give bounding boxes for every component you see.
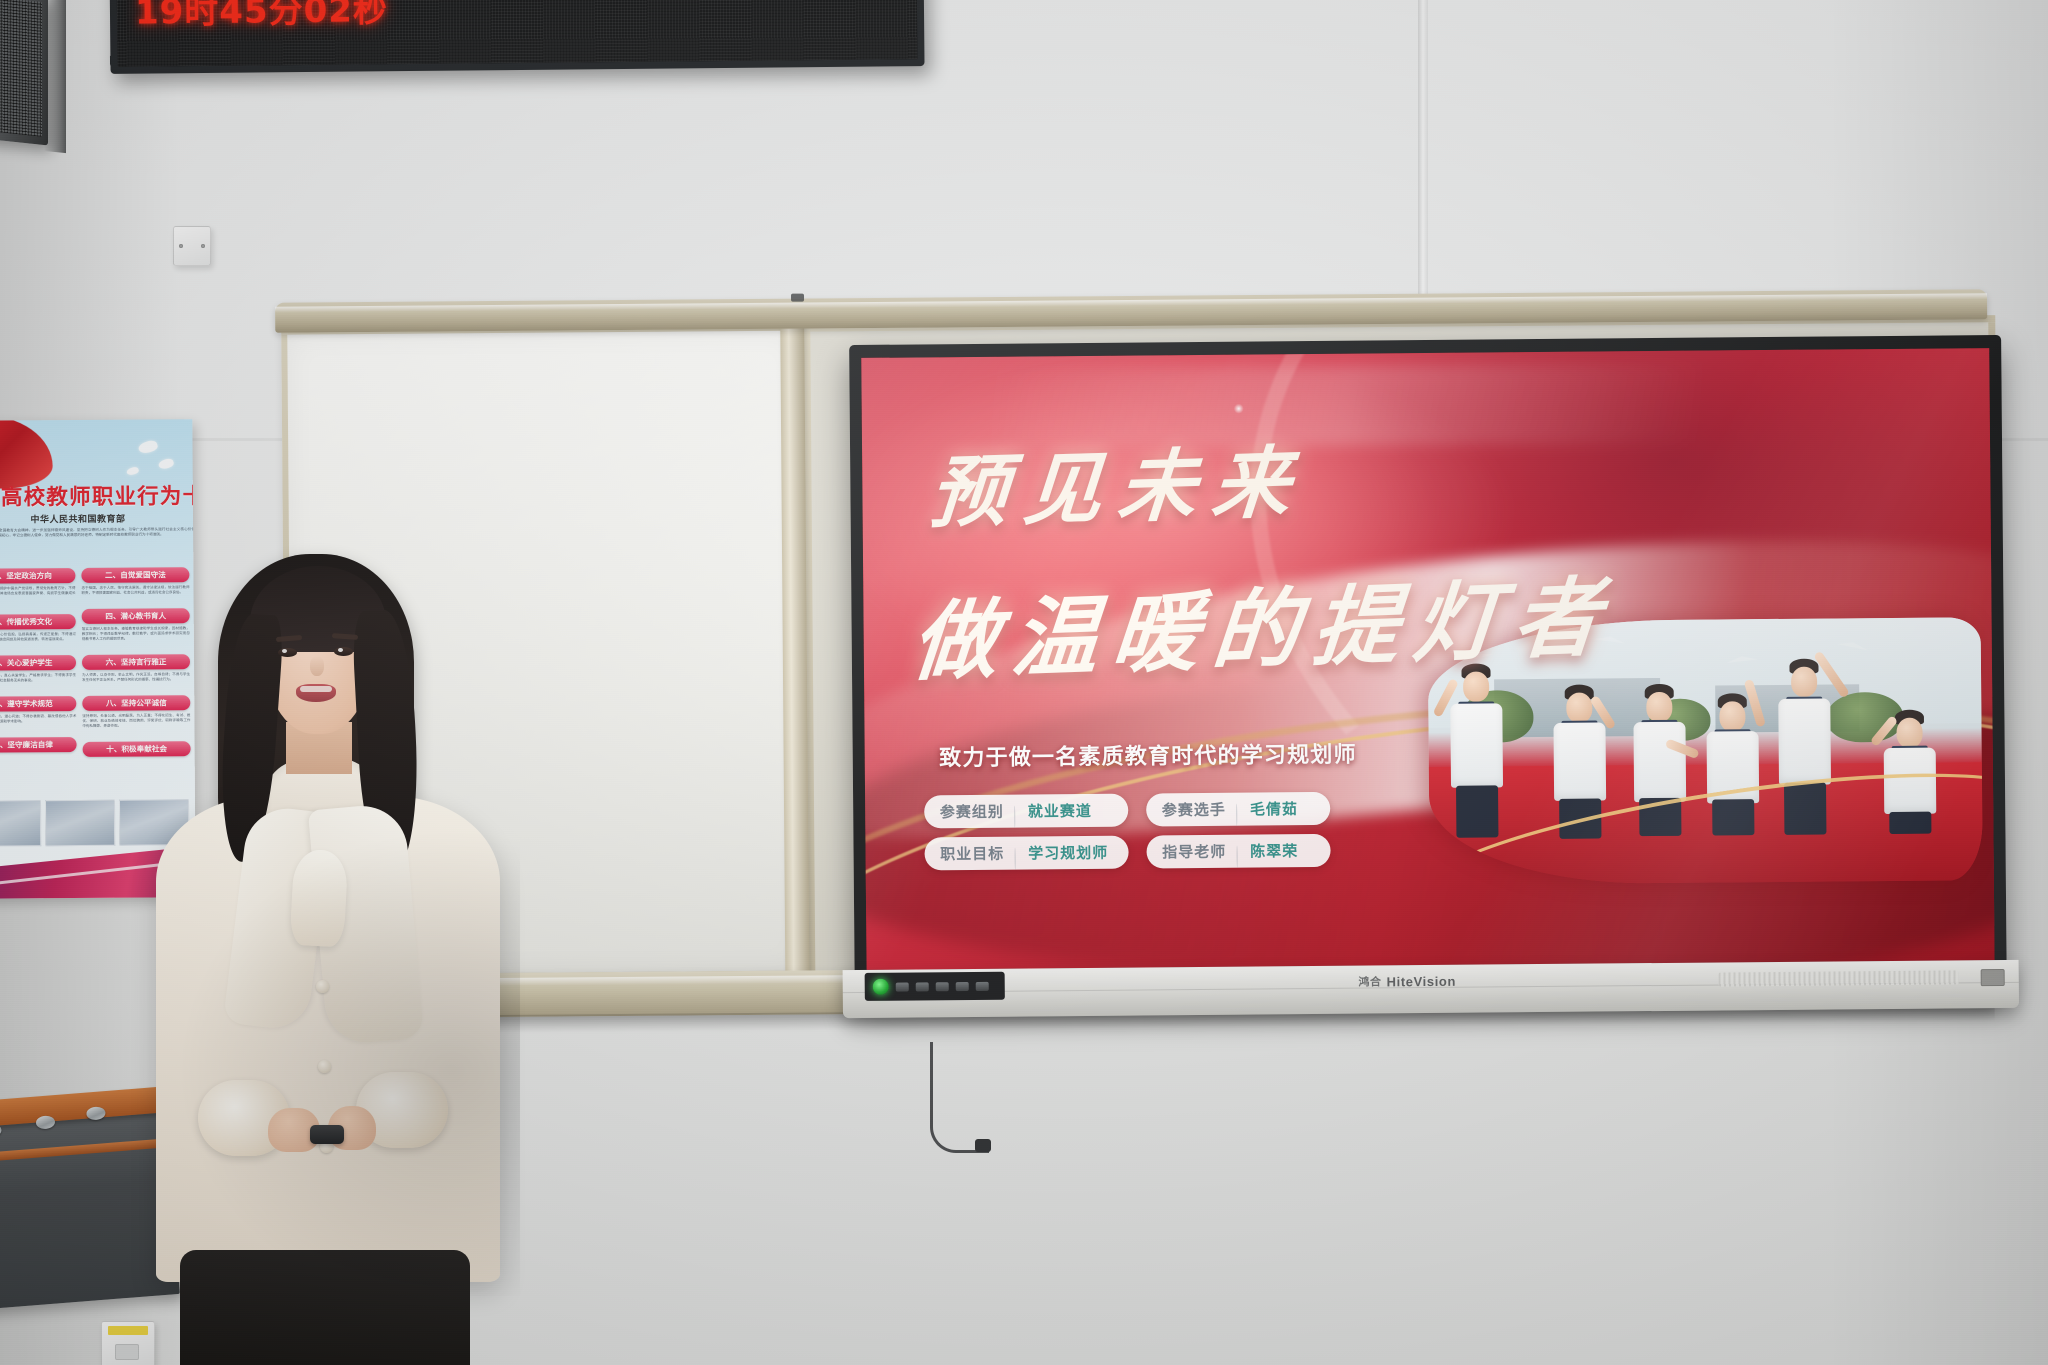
- student-figure: [1550, 668, 1609, 836]
- info-chip-key: 参赛组别: [924, 800, 1015, 822]
- control-button[interactable]: [976, 981, 989, 990]
- power-button-icon[interactable]: [873, 979, 889, 995]
- poster-item: 五、关心爱护学生 严慈相济，诲人不倦，真心关爱学生，严格要求学生；不得要求学生从…: [0, 655, 76, 684]
- poster-intro-text: 为深入贯彻落实全国教育大会精神，进一步加强师德师风建设，坚持把立德树人作为根本任…: [0, 527, 196, 539]
- poster-issuer: 中华人民共和国教育部: [0, 511, 193, 526]
- control-button[interactable]: [896, 982, 909, 991]
- brand-name-cn: 鸿合: [1358, 973, 1381, 989]
- slide-info-chips: 参赛组别 就业赛道 参赛选手 毛倩茹 职业目标 学习规划师 指导老师 陈翠荣: [924, 791, 1331, 870]
- eye-highlight: [282, 649, 287, 653]
- panel-screen[interactable]: 预见未来 做温暖的提灯者 致力于做一名素质教育时代的学习规划师 参赛组别 就业赛…: [861, 348, 1994, 970]
- info-chip: 参赛选手 毛倩茹: [1146, 791, 1330, 826]
- coat-button-icon: [318, 1060, 331, 1073]
- interactive-flat-panel[interactable]: 预见未来 做温暖的提灯者 致力于做一名素质教育时代的学习规划师 参赛组别 就业赛…: [849, 335, 2007, 1005]
- poster-item-title: 三、传播优秀文化: [0, 614, 76, 630]
- info-chip-key: 指导老师: [1146, 840, 1237, 862]
- brand-name-en: HiteVision: [1387, 973, 1456, 989]
- presenter-teeth: [300, 686, 332, 692]
- info-chip-value: 学习规划师: [1015, 841, 1122, 863]
- wall-speaker: [0, 0, 48, 145]
- poster-item-body: 严慈相济，诲人不倦，真心关爱学生，严格要求学生；不得要求学生从事与教学、科研、社…: [0, 673, 76, 684]
- panel-chin: 鸿合 HiteVision: [843, 960, 2019, 1018]
- poster-item: 七、遵守学术规范 严谨治学，力戒浮躁，潜心问道；不得抄袭剽窃、篡改侵吞他人学术成…: [0, 696, 76, 725]
- presenter-nose: [310, 656, 324, 676]
- info-chip-value: 就业赛道: [1015, 799, 1106, 821]
- info-chip-key: 参赛选手: [1146, 798, 1237, 820]
- classroom-scene: 027-67885091 19时45分02秒 新时代高校教师职业行为十项准则 中…: [0, 0, 2048, 1365]
- student-figure: [1444, 657, 1508, 838]
- rail-clip-icon: [791, 294, 804, 302]
- info-chip-value: 毛倩茹: [1237, 798, 1312, 820]
- control-button[interactable]: [936, 982, 949, 991]
- poster-photo: [0, 800, 41, 846]
- presenter-eye: [278, 648, 297, 657]
- control-button[interactable]: [916, 982, 929, 991]
- poster-item-title: 五、关心爱护学生: [0, 655, 76, 671]
- info-chip-value: 陈翠荣: [1237, 840, 1312, 862]
- wall-switch-plate[interactable]: [173, 226, 211, 266]
- presentation-clicker[interactable]: [310, 1125, 344, 1144]
- poster-item-body: 严谨治学，力戒浮躁，潜心问道；不得抄袭剽窃、篡改侵吞他人学术成果，或滥用学术资源…: [0, 714, 76, 725]
- coat-bow-tie: [290, 849, 349, 948]
- poster-photo: [45, 800, 115, 846]
- flag-graphic-icon: [0, 419, 53, 489]
- speaker-grille-icon: [0, 0, 42, 137]
- poster-item: 一、坚定政治方向 坚持正确政治方向，拥护中国共产党领导，贯彻党的教育方针，不得在…: [0, 568, 76, 602]
- coat-button-icon: [316, 980, 329, 993]
- slide-title-line2: 做温暖的提灯者: [907, 547, 1620, 698]
- poster-item: 三、传播优秀文化 带头践行社会主义核心价值观，弘扬真善美，传递正能量；不得通过课…: [0, 614, 76, 643]
- panel-control-strip[interactable]: [865, 972, 1005, 1001]
- info-chip: 参赛组别 就业赛道: [924, 793, 1128, 828]
- panel-vent-grille: [1719, 970, 1959, 986]
- info-chip: 职业目标 学习规划师: [924, 835, 1128, 870]
- presenter-eye: [334, 647, 353, 656]
- slide-title-line1: 预见未来: [925, 420, 1310, 543]
- poster-item-title: 七、遵守学术规范: [0, 696, 76, 712]
- slide-subtitle: 致力于做一名素质教育时代的学习规划师: [939, 736, 1357, 772]
- eye-highlight: [338, 648, 343, 652]
- dove-icon: [137, 439, 159, 455]
- cable-plug-icon: [975, 1139, 991, 1152]
- screw-icon: [201, 244, 205, 248]
- hanging-cable: [930, 1042, 989, 1153]
- led-time-readout: 19时45分02秒: [135, 0, 388, 34]
- panel-side-port-icon[interactable]: [1981, 969, 2005, 986]
- panel-brand-label: 鸿合 HiteVision: [1358, 973, 1456, 990]
- poster-item-body: 带头践行社会主义核心价值观，弘扬真善美，传递正能量；不得通过课堂、论坛、讲座、信…: [0, 632, 76, 643]
- poster-item-body: 坚持正确政治方向，拥护中国共产党领导，贯彻党的教育方针，不得在教育教学活动中及其…: [0, 586, 76, 602]
- presenter-figure: [140, 560, 520, 1365]
- outlet-socket-icon: [115, 1344, 139, 1360]
- poster-item-title: 九、坚守廉洁自律: [0, 737, 77, 753]
- control-button[interactable]: [956, 982, 969, 991]
- dove-icon: [126, 466, 140, 476]
- poster-title: 新时代高校教师职业行为十项准则: [0, 479, 196, 512]
- speaker-side-edge: [44, 0, 66, 153]
- screw-icon: [179, 244, 183, 248]
- poster-item-title: 一、坚定政治方向: [0, 568, 75, 584]
- poster-item: 九、坚守廉洁自律: [0, 737, 77, 753]
- info-chip: 指导老师 陈翠荣: [1146, 833, 1330, 868]
- dove-icon: [158, 457, 175, 470]
- presenter-skirt: [180, 1250, 470, 1365]
- led-scrolling-board: 027-67885091 19时45分02秒: [109, 0, 924, 74]
- info-chip-key: 职业目标: [924, 842, 1015, 864]
- panel-bezel: 预见未来 做温暖的提灯者 致力于做一名素质教育时代的学习规划师 参赛组别 就业赛…: [849, 335, 2007, 1005]
